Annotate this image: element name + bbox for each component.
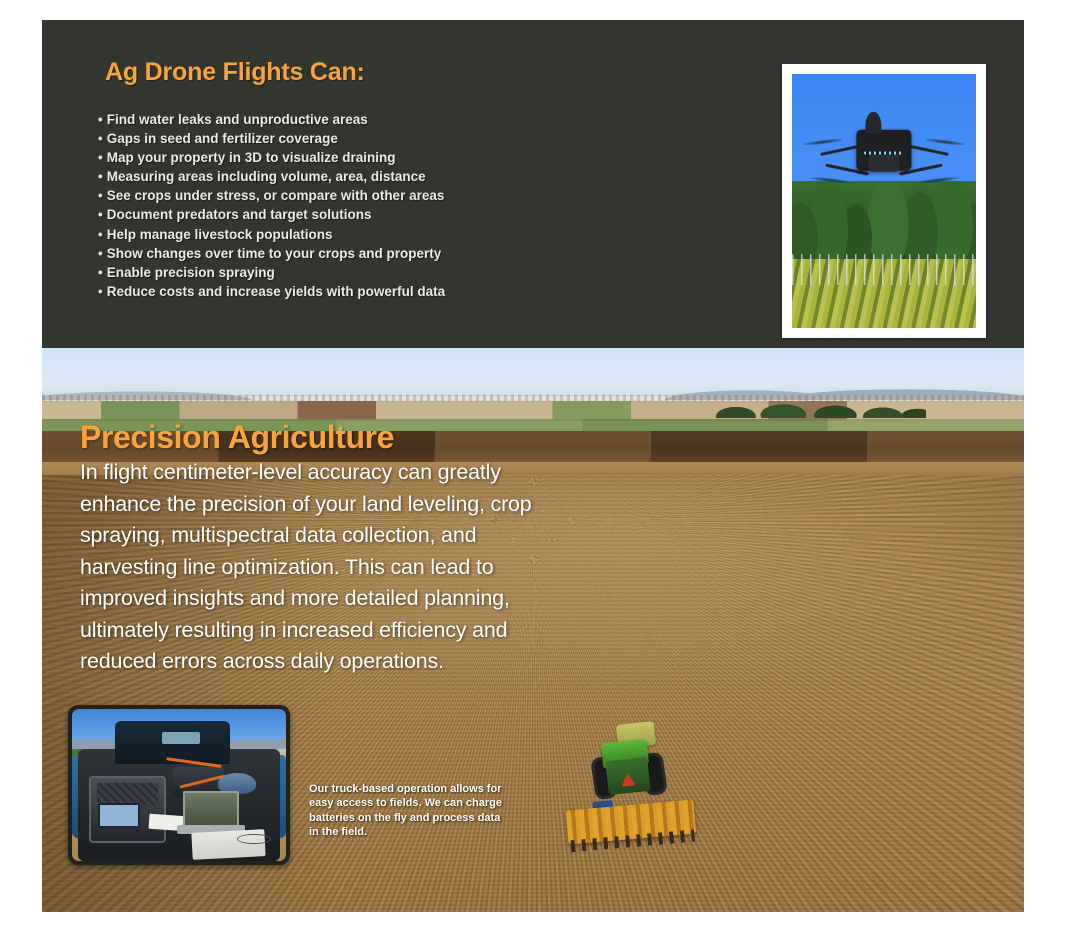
section-body-text: In flight centimeter-level accuracy can … [80, 457, 550, 678]
bullet-marker: • [98, 169, 103, 184]
list-item-label: Find water leaks and unproductive areas [107, 112, 368, 127]
list-item-label: Enable precision spraying [107, 265, 275, 280]
bullet-marker: • [98, 227, 103, 242]
tree-row [710, 402, 926, 418]
bullet-marker: • [98, 112, 103, 127]
drone-in-flight-photo [792, 74, 976, 328]
propeller-icon [924, 138, 965, 147]
tillage-implement [566, 799, 696, 844]
list-item-label: Document predators and target solutions [107, 207, 372, 222]
bullet-marker: • [98, 188, 103, 203]
tree-line [792, 181, 976, 262]
list-item: •Map your property in 3D to visualize dr… [98, 148, 618, 167]
field-edge-highlight [847, 475, 1024, 571]
list-item: •Enable precision spraying [98, 263, 618, 282]
list-item-label: Measuring areas including volume, area, … [107, 169, 426, 184]
tractor-with-implement [575, 723, 693, 845]
vineyard-posts [792, 254, 976, 284]
truck-photo-caption: Our truck-based operation allows for eas… [309, 782, 509, 840]
bullet-marker: • [98, 284, 103, 299]
list-item-label: Help manage livestock populations [107, 227, 333, 242]
list-item: •Gaps in seed and fertilizer coverage [98, 129, 618, 148]
propeller-icon [803, 138, 844, 147]
truck-bed-mobile-office-photo [72, 709, 286, 861]
bullet-marker: • [98, 246, 103, 261]
rear-window [162, 732, 201, 744]
list-item: •See crops under stress, or compare with… [98, 186, 618, 205]
page-root: Ag Drone Flights Can: •Find water leaks … [0, 0, 1066, 936]
list-item: •Find water leaks and unproductive areas [98, 110, 618, 129]
list-item-label: Reduce costs and increase yields with po… [107, 284, 445, 299]
bullet-marker: • [98, 207, 103, 222]
drone-led-strip [864, 151, 904, 154]
laptop-screen [183, 791, 239, 827]
page-title: Ag Drone Flights Can: [105, 58, 365, 87]
section-title: Precision Agriculture [80, 419, 394, 456]
list-item: •Measuring areas including volume, area,… [98, 167, 618, 186]
list-item: •Show changes over time to your crops an… [98, 244, 618, 263]
drone-photo-frame [782, 64, 986, 338]
list-item: •Help manage livestock populations [98, 225, 618, 244]
ag-drone-flights-panel: Ag Drone Flights Can: •Find water leaks … [42, 20, 1024, 348]
list-item: •Reduce costs and increase yields with p… [98, 282, 618, 301]
list-item-label: See crops under stress, or compare with … [107, 188, 445, 203]
list-item: •Document predators and target solutions [98, 205, 618, 224]
bullet-marker: • [98, 131, 103, 146]
controller-screen [98, 803, 141, 827]
bullet-marker: • [98, 150, 103, 165]
list-item-label: Map your property in 3D to visualize dra… [107, 150, 396, 165]
truck-photo-frame [68, 705, 290, 865]
slow-vehicle-triangle-icon [620, 772, 635, 786]
drone-capabilities-list: •Find water leaks and unproductive areas… [98, 110, 618, 301]
list-item-label: Gaps in seed and fertilizer coverage [107, 131, 338, 146]
list-item-label: Show changes over time to your crops and… [107, 246, 442, 261]
drone-fuselage [856, 130, 911, 171]
bullet-marker: • [98, 265, 103, 280]
